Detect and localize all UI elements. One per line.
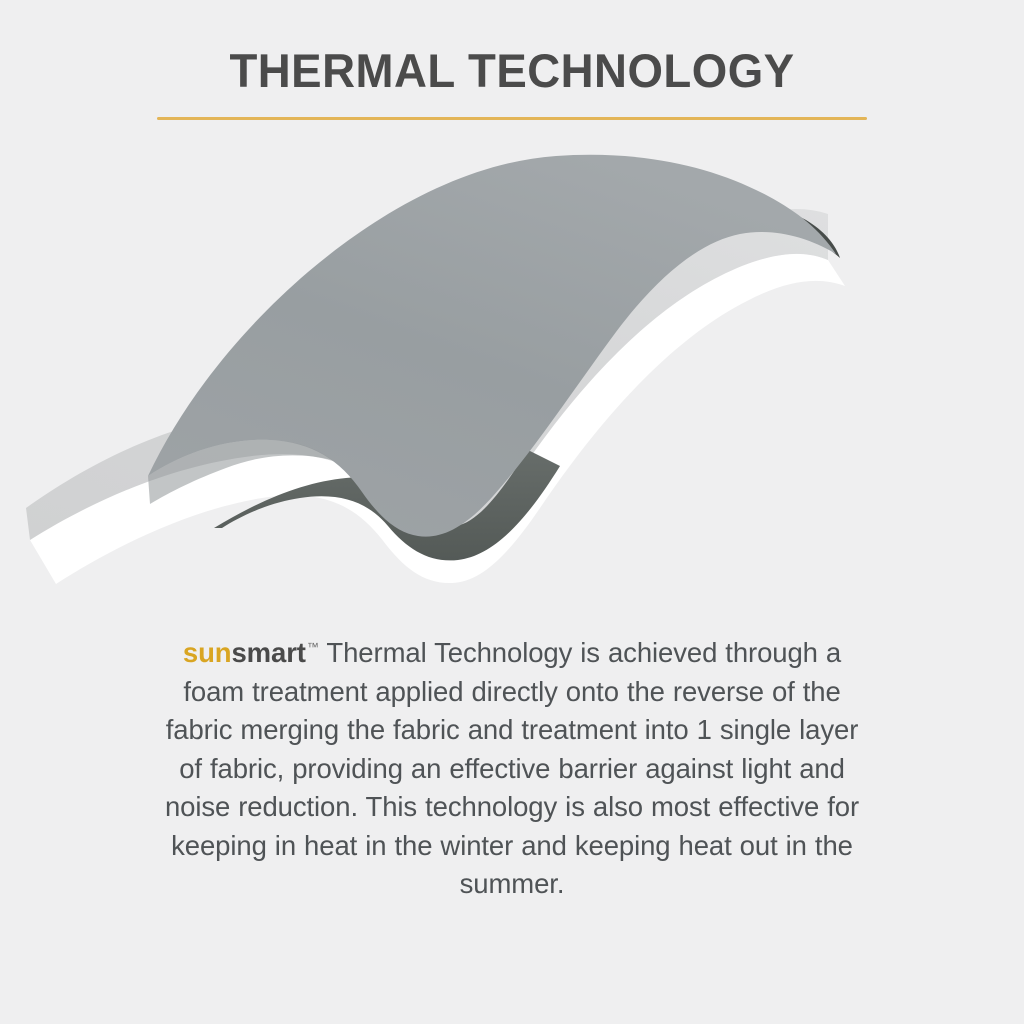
fabric-layers-graphic bbox=[0, 136, 1024, 606]
trademark-symbol: ™ bbox=[307, 640, 319, 654]
thermal-technology-page: THERMAL TECHNOLOGY bbox=[0, 0, 1024, 1024]
description-paragraph: sunsmart™ Thermal Technology is achieved… bbox=[154, 628, 870, 904]
brand-smart-text: smart bbox=[231, 637, 305, 668]
thermal-fabric-illustration bbox=[0, 136, 1024, 606]
title-divider-rule bbox=[157, 117, 867, 120]
header: THERMAL TECHNOLOGY bbox=[157, 46, 867, 120]
description-block: sunsmart™ Thermal Technology is achieved… bbox=[154, 628, 870, 904]
sunsmart-brand-lockup: sunsmart™ bbox=[183, 637, 319, 668]
description-text: Thermal Technology is achieved through a… bbox=[165, 637, 859, 899]
page-title: THERMAL TECHNOLOGY bbox=[168, 46, 857, 95]
brand-sun-text: sun bbox=[183, 637, 232, 668]
